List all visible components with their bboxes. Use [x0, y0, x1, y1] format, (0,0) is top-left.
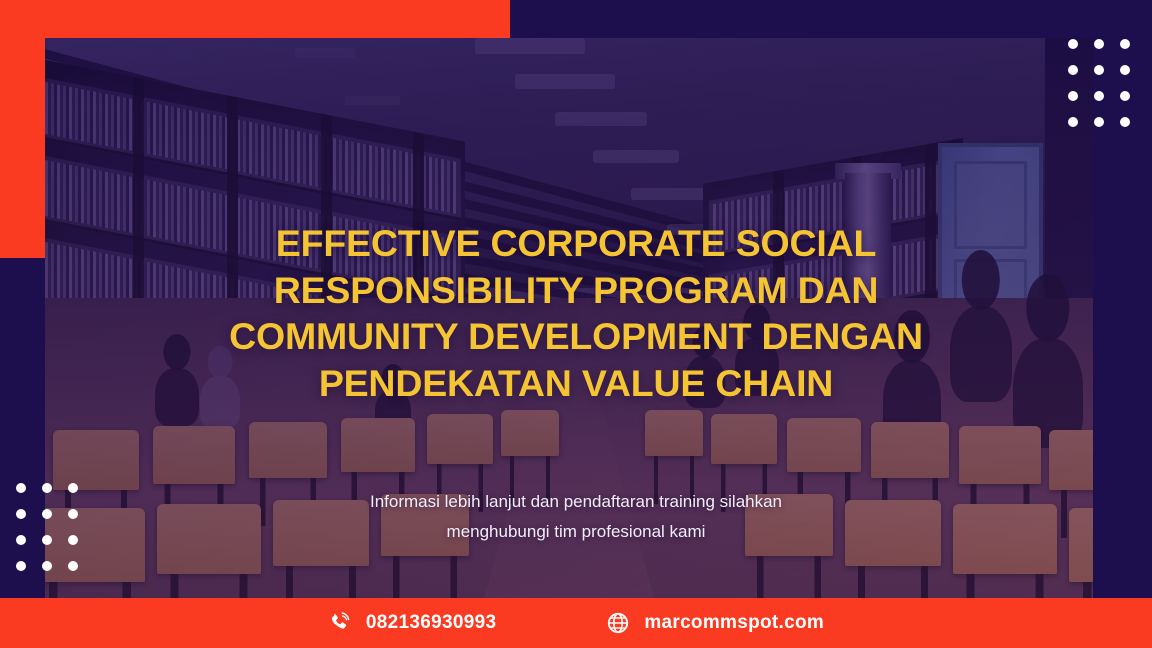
subtitle-line-2: menghubungi tim profesional kami — [0, 517, 1152, 547]
dot — [1094, 91, 1104, 101]
dot — [1120, 39, 1130, 49]
contact-bar: 082136930993 marcommspot.com — [0, 598, 1152, 648]
dot — [1094, 39, 1104, 49]
dot-grid-top-right — [1068, 39, 1130, 127]
red-accent-top — [0, 0, 510, 38]
phone-number: 082136930993 — [366, 612, 496, 634]
headline-block: EFFECTIVE CORPORATE SOCIAL RESPONSIBILIT… — [0, 220, 1152, 406]
dot — [42, 561, 52, 571]
headline-line-3: COMMUNITY DEVELOPMENT DENGAN — [70, 313, 1082, 360]
subtitle-block: Informasi lebih lanjut dan pendaftaran t… — [0, 487, 1152, 547]
website-url: marcommspot.com — [644, 612, 824, 634]
subtitle-line-1: Informasi lebih lanjut dan pendaftaran t… — [0, 487, 1152, 517]
phone-ringing-icon — [328, 611, 352, 635]
poster-canvas: EFFECTIVE CORPORATE SOCIAL RESPONSIBILIT… — [0, 0, 1152, 648]
dot — [1068, 65, 1078, 75]
headline-line-1: EFFECTIVE CORPORATE SOCIAL — [70, 220, 1082, 267]
dot — [68, 561, 78, 571]
dot — [1120, 117, 1130, 127]
headline-line-4: PENDEKATAN VALUE CHAIN — [70, 360, 1082, 407]
phone-contact[interactable]: 082136930993 — [328, 611, 496, 635]
dot — [1068, 91, 1078, 101]
dot — [1120, 65, 1130, 75]
website-contact[interactable]: marcommspot.com — [606, 611, 824, 635]
dot — [16, 561, 26, 571]
page-title: EFFECTIVE CORPORATE SOCIAL RESPONSIBILIT… — [70, 220, 1082, 406]
dot — [1068, 117, 1078, 127]
headline-line-2: RESPONSIBILITY PROGRAM DAN — [70, 267, 1082, 314]
dot — [1068, 39, 1078, 49]
dot — [1094, 117, 1104, 127]
globe-icon — [606, 611, 630, 635]
dot — [1120, 91, 1130, 101]
dot — [1094, 65, 1104, 75]
